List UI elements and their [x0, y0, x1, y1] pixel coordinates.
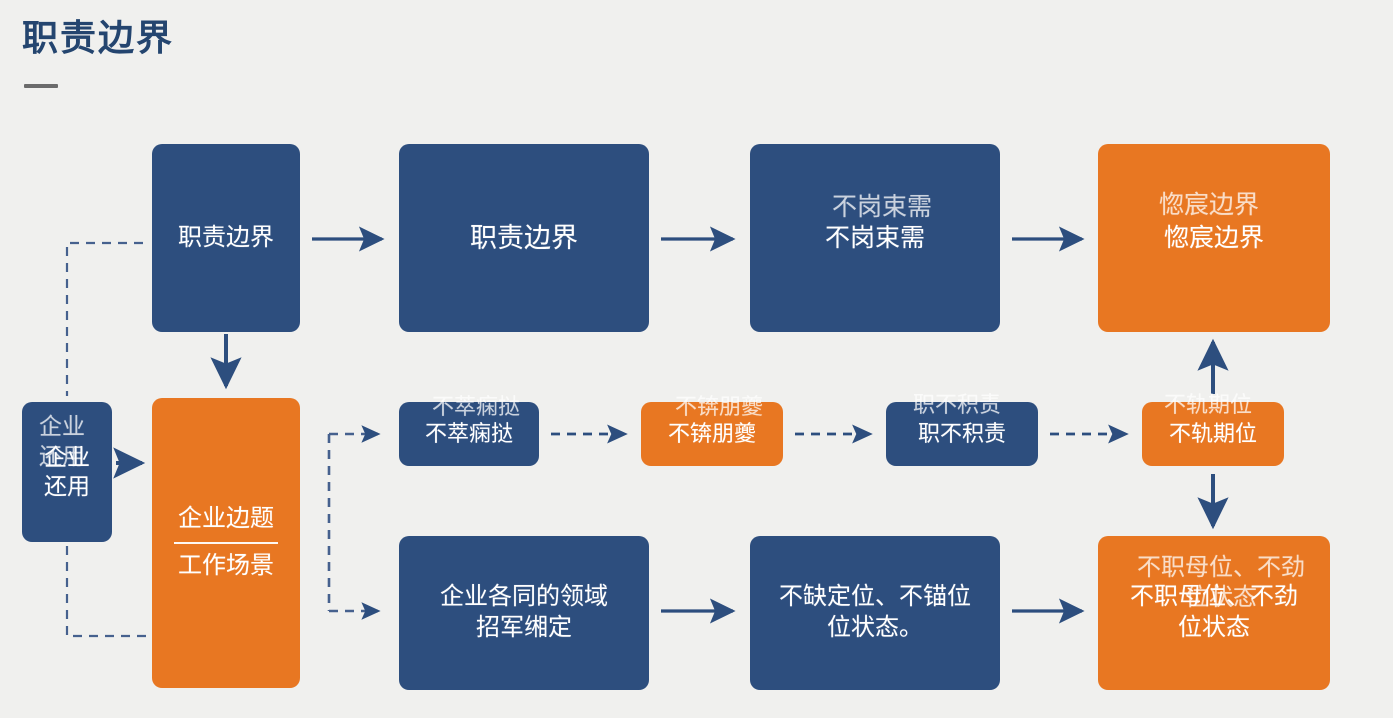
node-enterprise-left[interactable]: 企业 还用 企业 还用: [22, 402, 112, 542]
node-enterprise-stack-line1: 企业边题: [178, 504, 274, 535]
node-bottom-1[interactable]: 企业各同的领域 招军缃定: [399, 536, 649, 690]
node-enterprise-left-ghost: 企业 还用: [39, 412, 85, 471]
node-enterprise-stack[interactable]: 企业边题 工作场景: [152, 398, 300, 688]
node-top-2[interactable]: 职责边界: [399, 144, 649, 332]
node-top-4-text: 惚宸边界: [1164, 224, 1264, 252]
node-bottom-1-label: 企业各同的领域 招军缃定: [440, 582, 608, 643]
dashed-link-top1-to-left: [67, 243, 143, 396]
node-top-3-label: 不岗束需 不岗束需: [825, 190, 925, 286]
node-top-3-text: 不岗束需: [825, 224, 925, 252]
dashed-link-left-to-stack: [67, 546, 152, 636]
node-bottom-2-label: 不缺定位、不锚位 位状态。: [779, 582, 971, 643]
node-top-4-ghost: 惚宸边界: [1159, 189, 1259, 221]
node-mid-2-label: 不锛朋夔 不锛朋夔: [668, 392, 756, 476]
node-mid-2[interactable]: 不锛朋夔 不锛朋夔: [641, 402, 783, 466]
node-top-1[interactable]: 职责边界: [152, 144, 300, 332]
node-mid-2-ghost: 不锛朋夔: [675, 393, 763, 421]
node-mid-1-ghost: 不萃痫挞: [432, 393, 520, 421]
node-mid-3-label: 职不积责 职不积责: [918, 392, 1006, 476]
node-top-2-label: 职责边界: [470, 221, 578, 256]
node-mid-3-ghost: 职不积责: [913, 391, 1001, 419]
node-mid-4-label: 不轨期位 不轨期位: [1169, 392, 1257, 476]
node-top-1-label: 职责边界: [178, 223, 274, 254]
node-bottom-3-label: 不职母位、不劲 位状态 不职母位、不劲 位状态: [1130, 552, 1298, 675]
node-top-3[interactable]: 不岗束需 不岗束需: [750, 144, 1000, 332]
page-title: 职责边界: [22, 16, 174, 59]
title-underline-rule: [24, 84, 58, 88]
node-mid-3-text: 职不积责: [918, 421, 1006, 446]
stack-divider: [174, 542, 278, 544]
node-bottom-3-ghost: 不职母位、不劲 位状态: [1137, 553, 1305, 614]
node-mid-2-text: 不锛朋夔: [668, 421, 756, 446]
node-enterprise-stack-line2: 工作场景: [178, 551, 274, 582]
node-mid-1[interactable]: 不萃痫挞 不萃痫挞: [399, 402, 539, 466]
node-top-4-label: 惚宸边界 惚宸边界: [1164, 190, 1264, 286]
node-mid-4-text: 不轨期位: [1169, 421, 1257, 446]
slide-canvas: 职责边界: [0, 0, 1393, 718]
node-top-3-ghost: 不岗束需: [832, 191, 932, 223]
node-bottom-3[interactable]: 不职母位、不劲 位状态 不职母位、不劲 位状态: [1098, 536, 1330, 690]
node-mid-1-label: 不萃痫挞 不萃痫挞: [425, 392, 513, 476]
node-bottom-2[interactable]: 不缺定位、不锚位 位状态。: [750, 536, 1000, 690]
node-mid-4[interactable]: 不轨期位 不轨期位: [1142, 402, 1284, 466]
node-mid-4-ghost: 不轨期位: [1164, 391, 1252, 419]
node-enterprise-left-label: 企业 还用 企业 还用: [44, 413, 90, 531]
node-top-4[interactable]: 惚宸边界 惚宸边界: [1098, 144, 1330, 332]
node-mid-3[interactable]: 职不积责 职不积责: [886, 402, 1038, 466]
node-mid-1-text: 不萃痫挞: [425, 421, 513, 446]
